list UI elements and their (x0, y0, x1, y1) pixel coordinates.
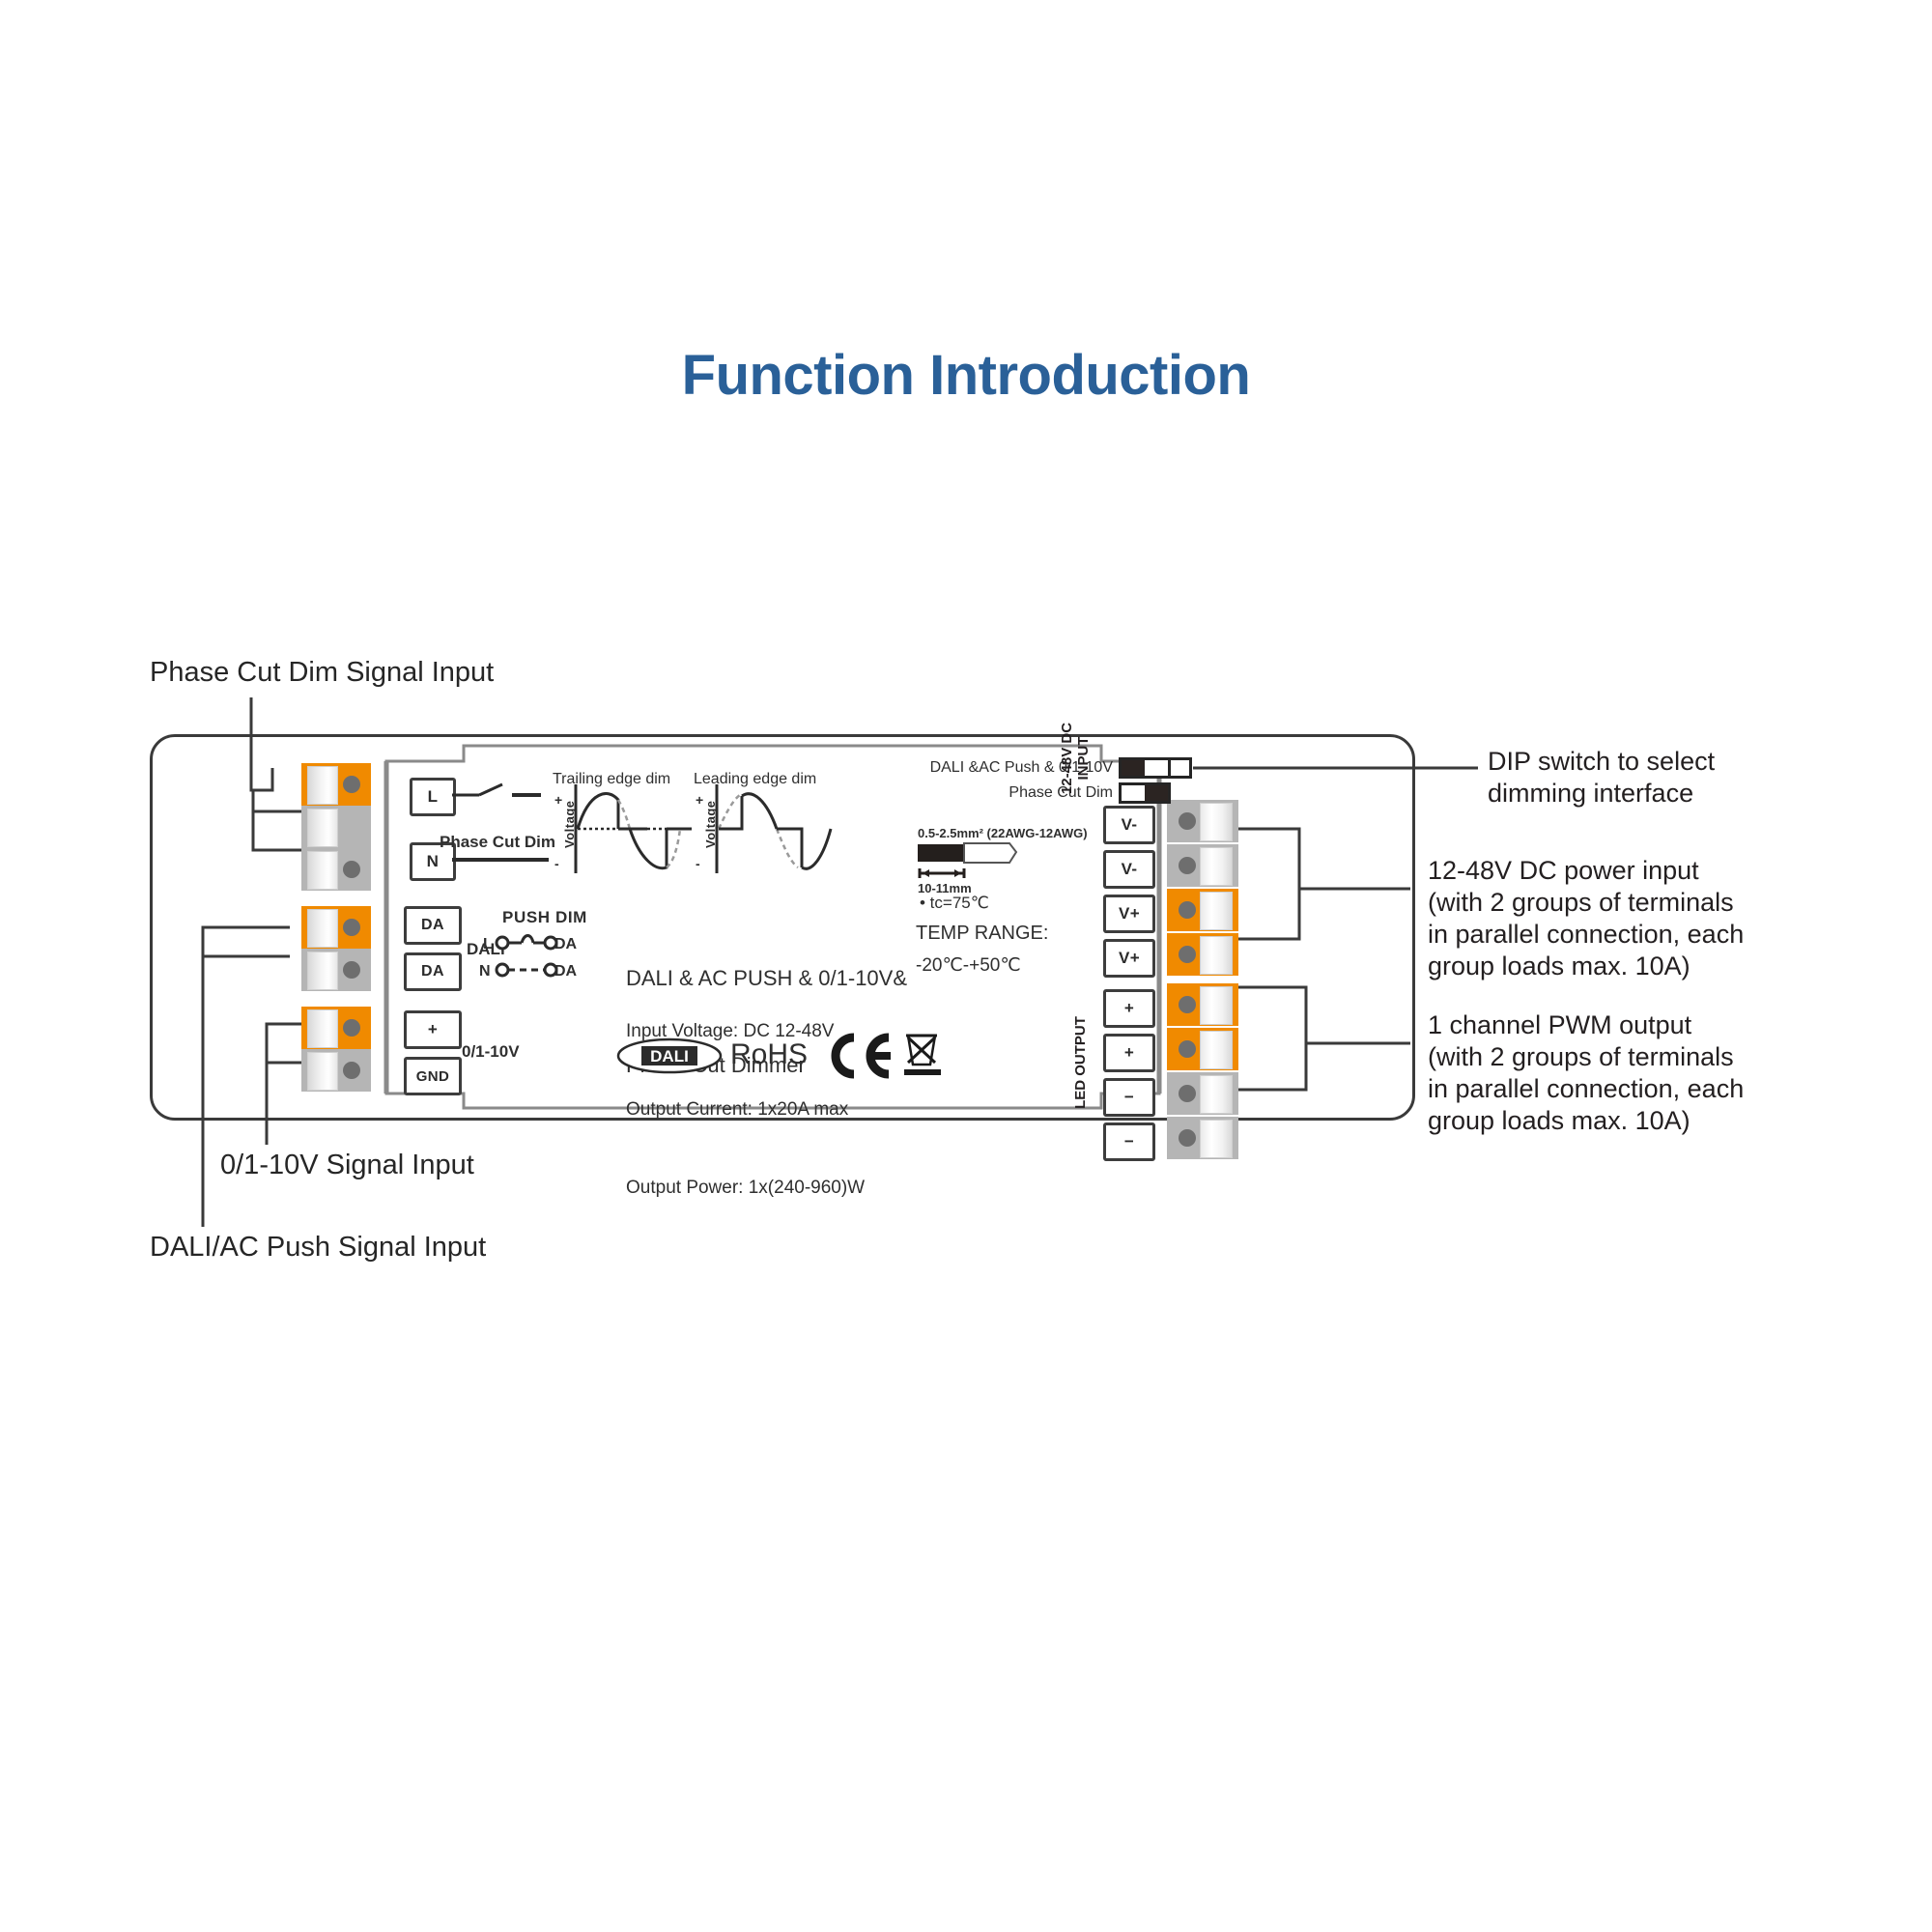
pinbox-out-plus-1[interactable]: + (1103, 989, 1155, 1028)
callout-dc-power-input-line-2: (with 2 groups of terminals (1428, 887, 1744, 919)
label-0-1-10v: 0/1-10V (462, 1042, 520, 1062)
terminal-l-spacer (301, 806, 371, 848)
waveform-trailing-axis-label: Voltage (562, 801, 577, 849)
pinbox-da-1[interactable]: DA (404, 906, 462, 945)
callout-phase-cut-dim-signal-input: Phase Cut Dim Signal Input (150, 657, 494, 689)
thermal-tc: • tc=75℃ (920, 894, 989, 913)
callout-dc-power-input: 12-48V DC power input (with 2 groups of … (1428, 855, 1744, 982)
group-label-12-48v-dc-input: 12-48V DC INPUT (1059, 696, 1082, 821)
pinbox-out-minus-1[interactable]: − (1103, 1078, 1155, 1117)
pinbox-vminus-2[interactable]: V- (1103, 850, 1155, 889)
callout-pwm-output-line-2: (with 2 groups of terminals (1428, 1041, 1744, 1073)
spec-output-current: Output Current: 1x20A max (626, 1096, 865, 1122)
terminal-vplus-1-hole[interactable] (1179, 901, 1196, 919)
terminal-out-minus-1-hole[interactable] (1179, 1085, 1196, 1102)
thermal-range-value: -20℃-+50℃ (916, 954, 1021, 977)
pinbox-l[interactable]: L (410, 778, 456, 816)
pinbox-gnd[interactable]: GND (404, 1057, 462, 1095)
push-dim-row2-right: DA (554, 963, 577, 980)
page-root: Function Introduction Phase Cut Dim Sign… (0, 0, 1932, 1932)
waveform-leading-plus: + (696, 792, 703, 808)
terminal-plus-slot (307, 1009, 338, 1048)
terminal-l[interactable] (301, 763, 371, 806)
waveform-leading-minus: - (696, 856, 700, 871)
pinbox-vplus-1[interactable]: V+ (1103, 895, 1155, 933)
callout-dip-switch: DIP switch to select dimming interface (1488, 746, 1715, 810)
terminal-vplus-1-slot (1200, 892, 1233, 930)
callout-dip-switch-line-1: DIP switch to select (1488, 746, 1715, 778)
push-dim-row1-left: L (483, 936, 493, 953)
callout-pwm-output-line-4: group loads max. 10A) (1428, 1105, 1744, 1137)
terminal-vminus-2-hole[interactable] (1179, 857, 1196, 874)
terminal-da-1[interactable] (301, 906, 371, 949)
callout-dali-ac-push-signal-input: DALI/AC Push Signal Input (150, 1232, 486, 1264)
callout-pwm-output: 1 channel PWM output (with 2 groups of t… (1428, 1009, 1744, 1137)
terminal-vminus-2-slot (1200, 847, 1233, 886)
terminal-da-2[interactable] (301, 949, 371, 991)
thermal-range-label: TEMP RANGE: (916, 923, 1048, 945)
terminal-n-hole[interactable] (343, 861, 360, 878)
dip-row-2-label: Phase Cut Dim (976, 784, 1113, 802)
terminal-vminus-1[interactable] (1167, 800, 1238, 842)
waveform-trailing-title: Trailing edge dim (553, 771, 670, 788)
wire-gauge-label: 0.5-2.5mm² (22AWG-12AWG) (918, 826, 1088, 840)
pinbox-out-plus-2[interactable]: + (1103, 1034, 1155, 1072)
terminal-out-plus-2[interactable] (1167, 1028, 1238, 1070)
dip-switch-phase-right-toggle[interactable] (1145, 785, 1168, 801)
group-label-led-output: LED OUTPUT (1072, 985, 1092, 1140)
terminal-n-slot (307, 851, 338, 890)
terminal-l-slot (307, 766, 338, 805)
push-dim-row2-left: N (479, 963, 491, 980)
terminal-out-plus-2-hole[interactable] (1179, 1040, 1196, 1058)
terminal-da-1-slot (307, 909, 338, 948)
terminal-vplus-2-hole[interactable] (1179, 946, 1196, 963)
terminal-gnd-hole[interactable] (343, 1062, 360, 1079)
terminal-da-1-hole[interactable] (343, 919, 360, 936)
device-specs: Input Voltage: DC 12-48V Output Current:… (626, 966, 865, 1253)
terminal-out-plus-1-hole[interactable] (1179, 996, 1196, 1013)
callout-dip-switch-line-2: dimming interface (1488, 778, 1715, 810)
dip-switch-dali-left-toggle[interactable] (1122, 760, 1145, 776)
waveform-leading-axis-label: Voltage (703, 801, 718, 849)
dip-switch-phase-left-toggle[interactable] (1122, 785, 1145, 801)
terminal-n[interactable] (301, 848, 371, 891)
callout-0-1-10v-signal-input: 0/1-10V Signal Input (220, 1150, 474, 1181)
terminal-vminus-1-hole[interactable] (1179, 812, 1196, 830)
terminal-out-minus-2[interactable] (1167, 1117, 1238, 1159)
callout-dc-power-input-line-4: group loads max. 10A) (1428, 951, 1744, 982)
pinbox-vminus-1[interactable]: V- (1103, 806, 1155, 844)
pinbox-vplus-2[interactable]: V+ (1103, 939, 1155, 978)
callout-pwm-output-line-1: 1 channel PWM output (1428, 1009, 1744, 1041)
terminal-gnd-slot (307, 1052, 338, 1091)
terminal-vplus-2[interactable] (1167, 933, 1238, 976)
terminal-out-plus-1[interactable] (1167, 983, 1238, 1026)
terminal-out-minus-2-slot (1200, 1120, 1233, 1158)
terminal-out-plus-1-slot (1200, 986, 1233, 1025)
push-dim-row1-right: DA (554, 936, 577, 953)
callout-dc-power-input-line-3: in parallel connection, each (1428, 919, 1744, 951)
label-phase-cut-dim: Phase Cut Dim (440, 833, 555, 852)
terminal-gnd[interactable] (301, 1049, 371, 1092)
pinbox-da-2[interactable]: DA (404, 952, 462, 991)
terminal-vplus-1[interactable] (1167, 889, 1238, 931)
pinbox-plus[interactable]: + (404, 1010, 462, 1049)
dip-switch-phase-cut-dim[interactable] (1119, 782, 1171, 804)
waveform-trailing-plus: + (554, 792, 562, 808)
terminal-vplus-2-slot (1200, 936, 1233, 975)
terminal-vminus-1-slot (1200, 803, 1233, 841)
terminal-out-plus-2-slot (1200, 1031, 1233, 1069)
terminal-out-minus-1[interactable] (1167, 1072, 1238, 1115)
terminal-plus[interactable] (301, 1007, 371, 1049)
terminal-da-2-hole[interactable] (343, 961, 360, 979)
terminal-da-2-slot (307, 952, 338, 990)
pinbox-out-minus-2[interactable]: − (1103, 1122, 1155, 1161)
rohs-label: RoHS (730, 1038, 808, 1071)
dip-switch-dali-ac-push[interactable] (1119, 757, 1171, 779)
terminal-l-hole[interactable] (343, 776, 360, 793)
waveform-trailing-minus: - (554, 856, 559, 871)
push-dim-title: PUSH DIM (502, 908, 587, 927)
spec-output-power: Output Power: 1x(240-960)W (626, 1175, 865, 1201)
terminal-plus-hole[interactable] (343, 1019, 360, 1037)
terminal-out-minus-1-slot (1200, 1075, 1233, 1114)
page-title: Function Introduction (0, 343, 1932, 408)
terminal-vminus-2[interactable] (1167, 844, 1238, 887)
callout-pwm-output-line-3: in parallel connection, each (1428, 1073, 1744, 1105)
dip-switch-dali-right-toggle[interactable] (1145, 760, 1168, 776)
callout-dc-power-input-line-1: 12-48V DC power input (1428, 855, 1744, 887)
waveform-leading-title: Leading edge dim (694, 771, 816, 788)
terminal-out-minus-2-hole[interactable] (1179, 1129, 1196, 1147)
terminal-l-spacer-slot (307, 809, 338, 847)
